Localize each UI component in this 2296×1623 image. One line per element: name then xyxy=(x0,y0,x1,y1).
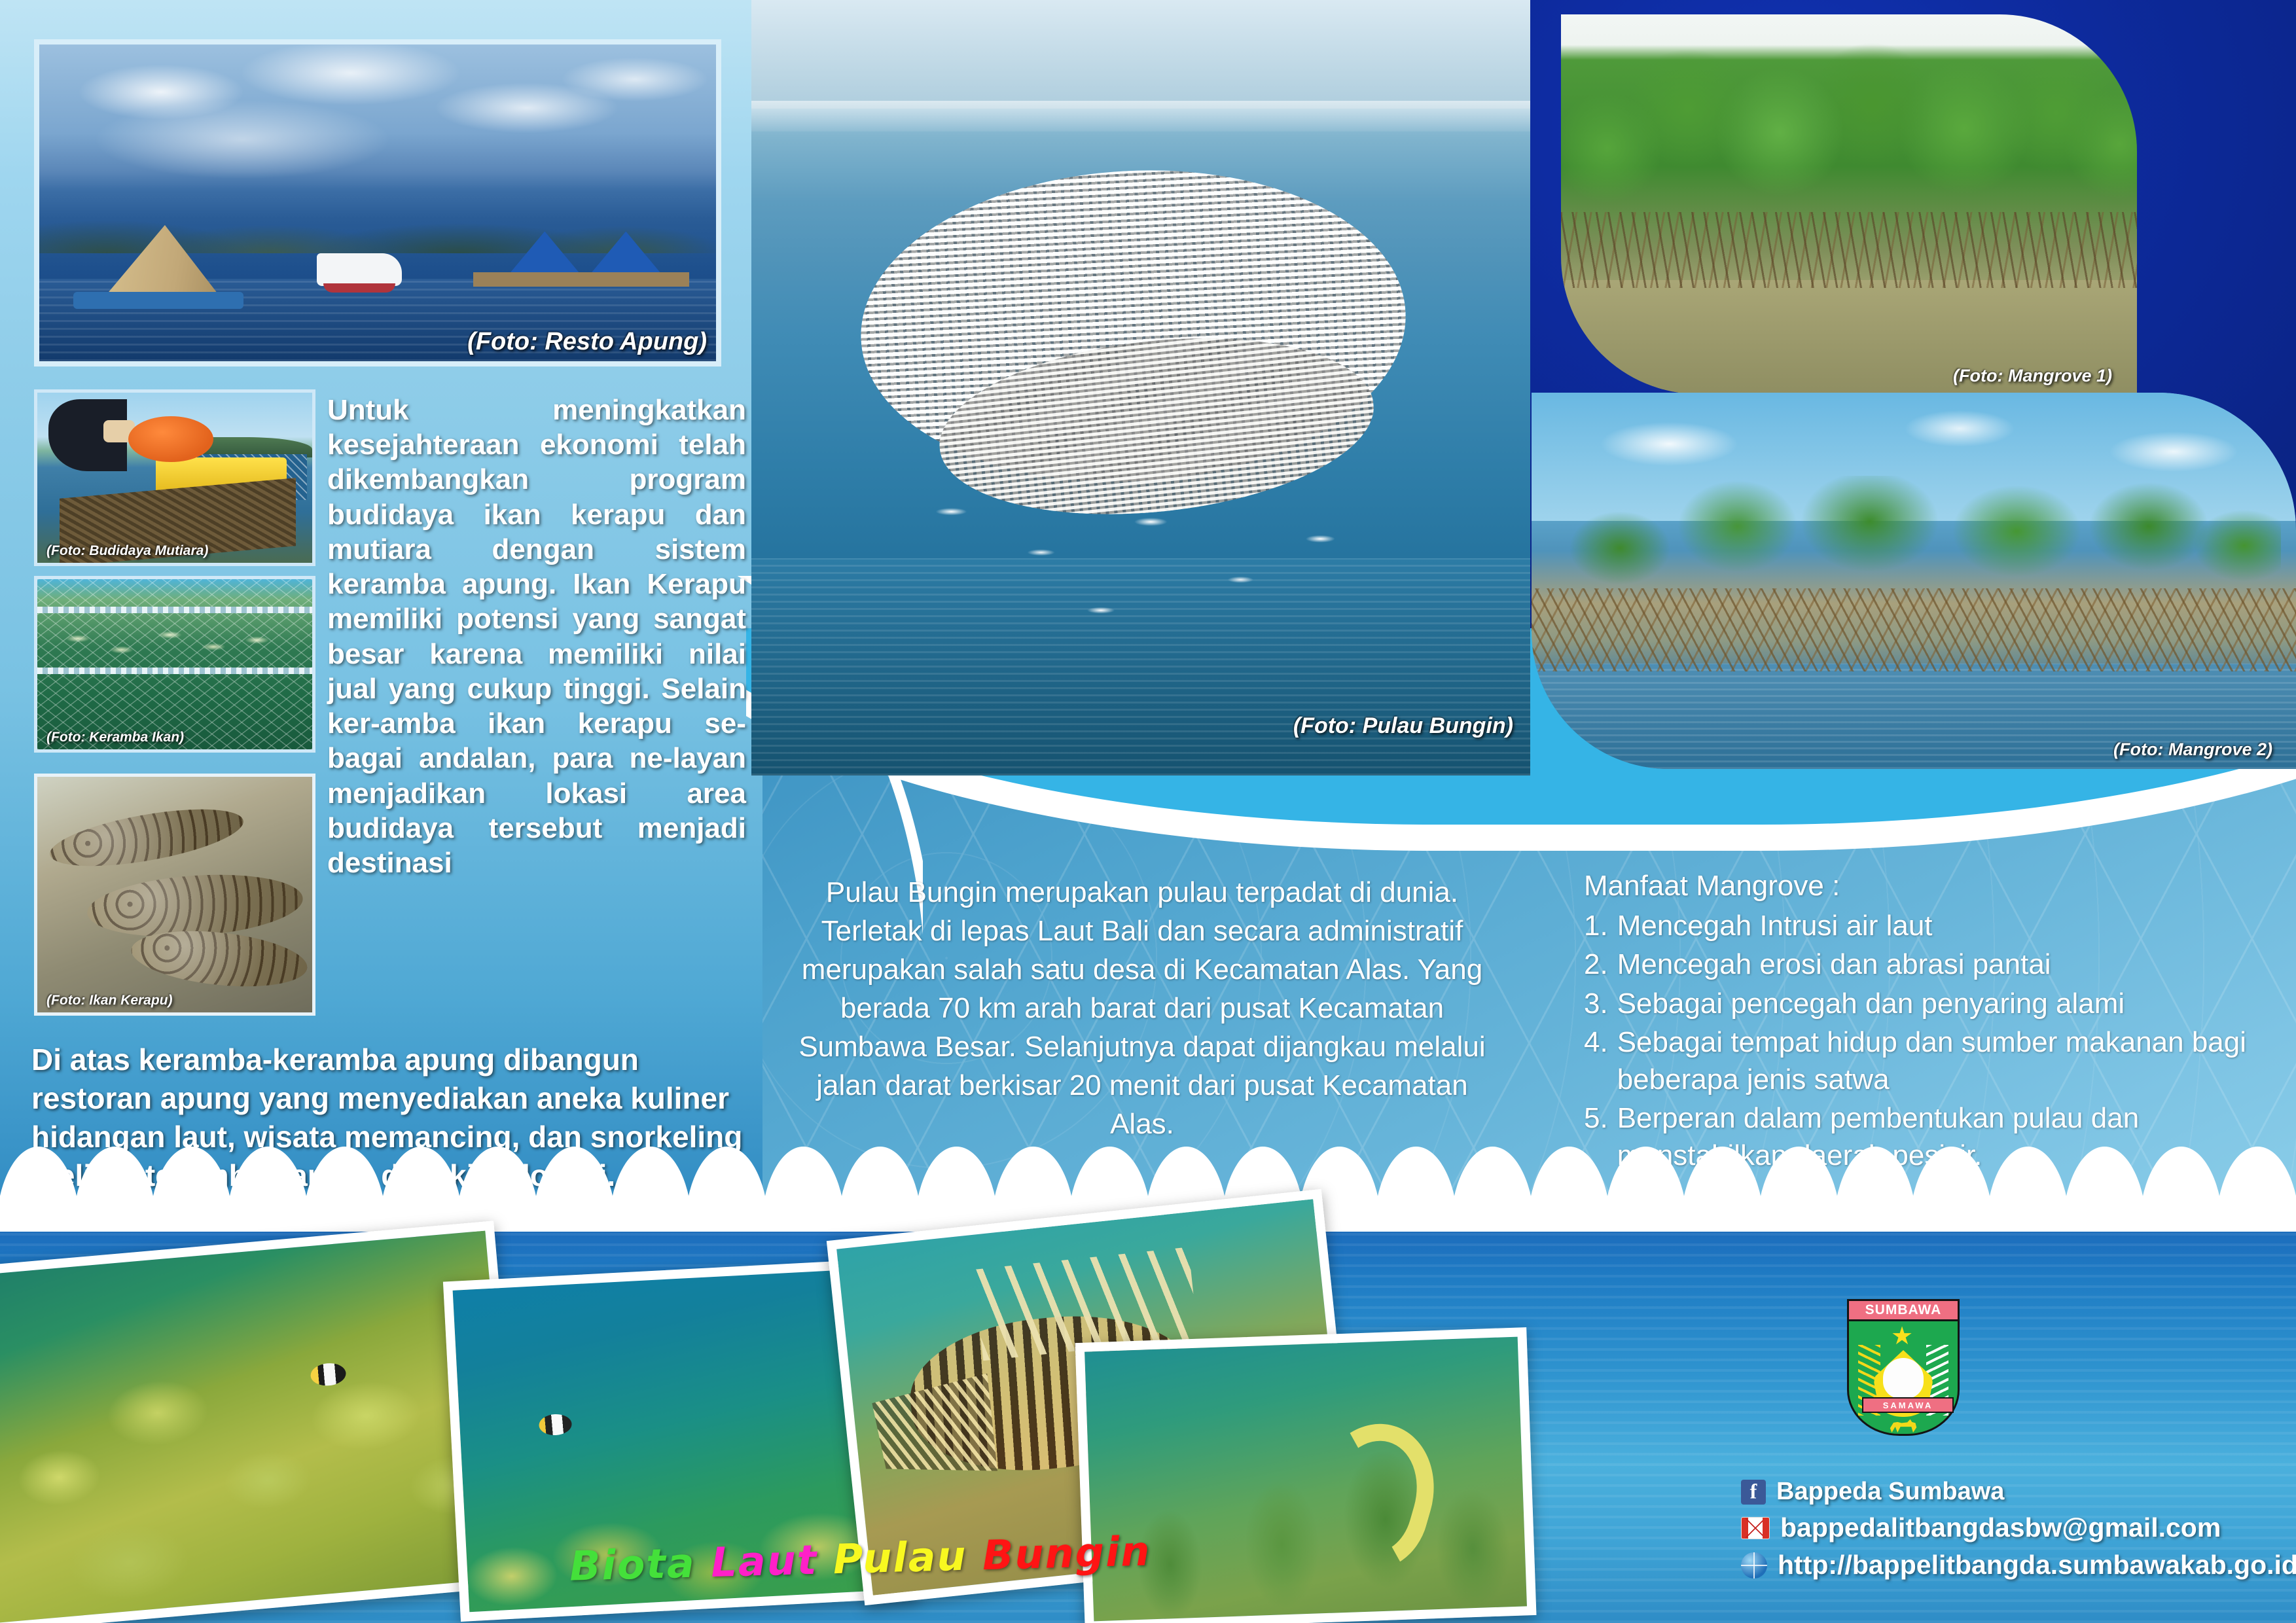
photo-caption: (Foto: Mangrove 1) xyxy=(1953,366,2112,386)
biota-word-4: Bungin xyxy=(982,1527,1151,1579)
list-item: 2. Mencegah erosi dan abrasi pantai xyxy=(1584,946,2251,983)
list-item: 1. Mencegah Intrusi air laut xyxy=(1584,907,2251,944)
photo-keramba-ikan: (Foto: Keramba Ikan) xyxy=(34,576,315,753)
mangrove-benefits-title: Manfaat Mangrove : xyxy=(1584,867,2251,904)
list-item-text: Mencegah Intrusi air laut xyxy=(1617,907,2251,944)
photo-caption: (Foto: Keramba Ikan) xyxy=(46,730,184,745)
paragraph-budidaya: Untuk meningkatkan kesejahteraan ekonomi… xyxy=(327,393,746,880)
deer-icon xyxy=(1889,1416,1918,1433)
list-item-number: 4. xyxy=(1584,1024,1608,1098)
photo-sky-clouds xyxy=(39,45,716,203)
photo-floating-deck xyxy=(473,272,689,287)
photo-rope-bottom xyxy=(37,668,312,674)
facebook-handle: Bappeda Sumbawa xyxy=(1776,1478,2004,1506)
photo-ikan-kerapu: (Foto: Ikan Kerapu) xyxy=(34,774,315,1016)
photo-seaweed xyxy=(1085,1337,1527,1622)
photo-net-mesh xyxy=(37,579,312,749)
emblem-shield: SAMAWA xyxy=(1847,1319,1960,1436)
photo-budidaya-mutiara: (Foto: Budidaya Mutiara) xyxy=(34,389,315,566)
emblem-ribbon-text: SAMAWA xyxy=(1883,1400,1933,1410)
list-item-number: 1. xyxy=(1584,907,1608,944)
contact-row-facebook[interactable]: Bappeda Sumbawa xyxy=(1741,1478,2291,1506)
sumbawa-emblem: SUMBAWA SAMAWA xyxy=(1844,1299,1962,1438)
photo-grouper-3 xyxy=(128,923,310,994)
photo-caption: (Foto: Ikan Kerapu) xyxy=(46,993,173,1008)
photo-orange-basket xyxy=(128,416,213,462)
photo-caption: (Foto: Mangrove 2) xyxy=(2113,740,2272,760)
photo-resto-apung: (Foto: Resto Apung) xyxy=(34,39,721,366)
website-url: http://bappelitbangda.sumbawakab.go.id/ xyxy=(1778,1550,2296,1580)
photo-caption: (Foto: Resto Apung) xyxy=(467,328,707,356)
photo-horizon-sky xyxy=(751,0,1530,109)
paragraph-pulau-bungin: Pulau Bungin merupakan pulau terpadat di… xyxy=(789,874,1496,1144)
emblem-ribbon: SAMAWA xyxy=(1862,1397,1954,1413)
photo-canopy xyxy=(1561,29,2137,227)
biota-word-3: Pulau xyxy=(833,1532,967,1583)
gmail-icon xyxy=(1741,1517,1770,1539)
tree-icon xyxy=(1883,1358,1924,1399)
contact-row-email[interactable]: bappedalitbangdasbw@gmail.com xyxy=(1741,1512,2291,1543)
facebook-icon xyxy=(1741,1480,1766,1505)
list-item: 4. Sebagai tempat hidup dan sumber makan… xyxy=(1584,1024,2251,1098)
list-item: 3. Sebagai pencegah dan penyaring alami xyxy=(1584,985,2251,1022)
photo-lionfish-pectoral-fin xyxy=(870,1373,998,1483)
biota-word-2: Laut xyxy=(710,1536,818,1586)
photo-pulau-bungin: (Foto: Pulau Bungin) xyxy=(751,0,1530,776)
contact-block: Bappeda Sumbawa bappedalitbangdasbw@gmai… xyxy=(1741,1478,2291,1587)
photo-caption: (Foto: Budidaya Mutiara) xyxy=(46,543,208,559)
list-item-text: Mencegah erosi dan abrasi pantai xyxy=(1617,946,2251,983)
photo-caption: (Foto: Pulau Bungin) xyxy=(1293,713,1513,739)
photo-reef-line xyxy=(751,101,1530,132)
photo-mangrove-1: (Foto: Mangrove 1) xyxy=(1561,14,2137,394)
photo-coral-lumps xyxy=(0,1230,516,1622)
photo-grouper-1 xyxy=(46,798,247,877)
photo-reef-fish xyxy=(539,1414,573,1436)
photo-roots xyxy=(1561,212,2137,288)
emblem-header-band: SUMBAWA xyxy=(1847,1299,1960,1321)
photo-mangrove-trees xyxy=(1547,476,2280,596)
photo-stilt-roots xyxy=(1532,588,2296,671)
list-item-number: 3. xyxy=(1584,985,1608,1022)
mangrove-benefits-list: 1. Mencegah Intrusi air laut 2. Mencegah… xyxy=(1584,907,2251,1174)
photo-pontoon xyxy=(73,292,243,309)
biota-word-1: Biota xyxy=(569,1539,696,1590)
photo-boat xyxy=(317,253,402,286)
list-item-number: 2. xyxy=(1584,946,1608,983)
contact-row-website[interactable]: http://bappelitbangda.sumbawakab.go.id/ xyxy=(1741,1550,2291,1580)
brochure-canvas: (Foto: Resto Apung) (Foto: Budidaya Muti… xyxy=(0,0,2296,1623)
list-item-text: Sebagai pencegah dan penyaring alami xyxy=(1617,985,2251,1022)
photo-mangrove-2: (Foto: Mangrove 2) xyxy=(1532,393,2296,769)
photo-moored-boats xyxy=(891,481,1390,652)
photo-rope-top xyxy=(37,607,312,613)
list-item-text: Sebagai tempat hidup dan sumber makanan … xyxy=(1617,1024,2251,1098)
photo-fish-school xyxy=(54,624,296,661)
mangrove-benefits-block: Manfaat Mangrove : 1. Mencegah Intrusi a… xyxy=(1584,867,2251,1176)
emblem-header-text: SUMBAWA xyxy=(1865,1302,1942,1318)
email-address: bappedalitbangdasbw@gmail.com xyxy=(1780,1512,2221,1543)
globe-icon xyxy=(1741,1552,1767,1578)
photo-pipefish xyxy=(1075,1327,1537,1623)
